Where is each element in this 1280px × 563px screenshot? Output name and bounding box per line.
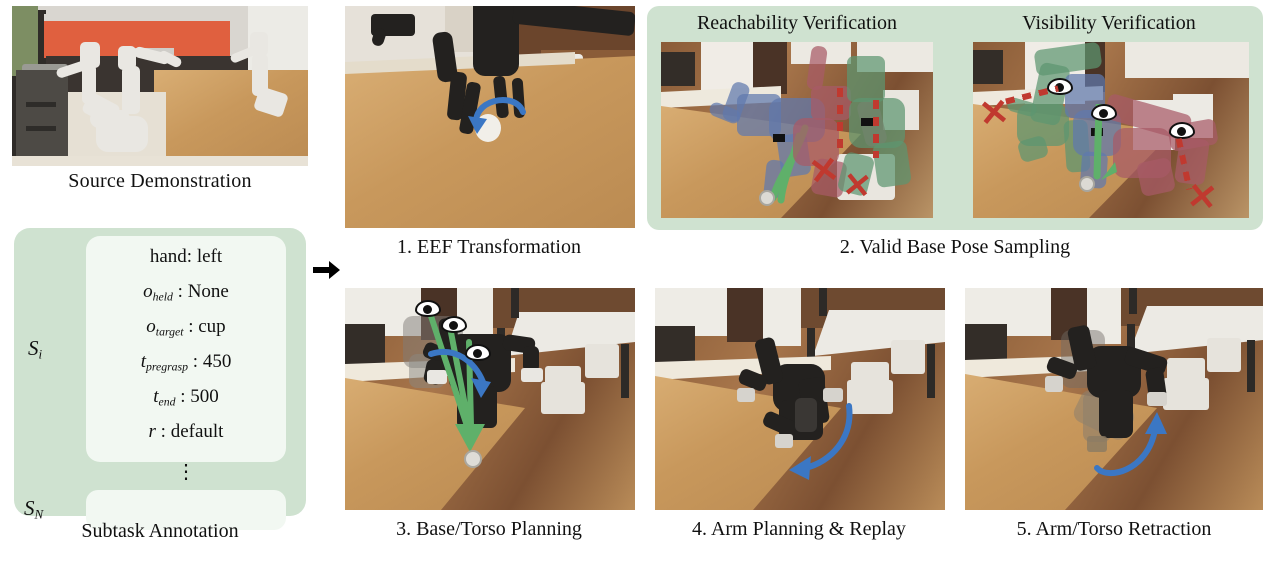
step-1-caption: 1. EEF Transformation <box>336 236 642 259</box>
eye-icon-1 <box>415 300 441 317</box>
step-3-caption: 3. Base/Torso Planning <box>336 518 642 541</box>
field-otarget: otarget : cup <box>86 316 286 339</box>
vertical-ellipsis: ⋮ <box>86 466 286 478</box>
field-hand-value: left <box>197 246 222 267</box>
arm-motion-arrow-blue <box>775 400 855 480</box>
field-tend-subscript: end <box>159 395 176 408</box>
eef-transformation-image <box>345 6 635 228</box>
field-tpregrasp-value: 450 <box>203 351 232 372</box>
field-hand-key: hand: <box>150 246 192 267</box>
step-2-caption: 2. Valid Base Pose Sampling <box>647 236 1263 259</box>
eye-icon-red <box>1169 122 1195 139</box>
subtask-annotation-caption: Subtask Annotation <box>8 520 312 543</box>
reachability-verification-image: ✕ ✕ <box>661 42 933 218</box>
subtask-annotation-panel: Si hand: left oheld : None otarget : cup… <box>14 228 306 516</box>
field-otarget-value: cup <box>198 316 225 337</box>
base-torso-planning-image <box>345 288 635 510</box>
field-tend-sep: : <box>180 386 185 407</box>
field-tend-value: 500 <box>190 386 219 407</box>
reachability-verification-title: Reachability Verification <box>657 12 937 35</box>
field-oheld-sep: : <box>178 281 183 302</box>
subtask-i-symbol: S <box>28 336 39 360</box>
subtask-field-box: hand: left oheld : None otarget : cup tp… <box>86 236 286 462</box>
arrow-right-icon <box>312 258 342 282</box>
field-r: r : default <box>86 421 286 443</box>
field-tpregrasp-subscript: pregrasp <box>146 360 188 373</box>
eye-icon-2 <box>441 316 467 333</box>
field-otarget-sep: : <box>188 316 193 337</box>
subtask-i-subscript: i <box>39 347 43 362</box>
field-r-key: r <box>149 421 156 442</box>
eye-icon-3 <box>465 344 491 361</box>
field-oheld-key: o <box>143 281 153 302</box>
eye-icon-blue <box>1091 104 1117 121</box>
field-oheld-subscript: held <box>153 290 173 303</box>
field-hand: hand: left <box>86 246 286 268</box>
field-r-sep: : <box>161 421 166 442</box>
rotation-arrow-icon <box>457 74 537 144</box>
subtask-i-label: Si <box>28 336 42 363</box>
field-tpregrasp-sep: : <box>193 351 198 372</box>
subtask-n-symbol: S <box>24 496 35 520</box>
field-otarget-key: o <box>146 316 156 337</box>
field-otarget-subscript: target <box>156 325 184 338</box>
valid-base-pose-sampling-panel: Reachability Verification Visibility Ver… <box>647 6 1263 230</box>
source-demonstration-caption: Source Demonstration <box>12 170 308 193</box>
subtask-n-label: SN <box>24 496 43 523</box>
arm-torso-retraction-image <box>965 288 1263 510</box>
step-5-caption: 5. Arm/Torso Retraction <box>956 518 1272 541</box>
field-tpregrasp: tpregrasp : 450 <box>86 351 286 374</box>
visibility-verification-title: Visibility Verification <box>969 12 1249 35</box>
arm-planning-replay-image <box>655 288 945 510</box>
field-oheld-value: None <box>188 281 229 302</box>
field-oheld: oheld : None <box>86 281 286 304</box>
retraction-arrow-blue <box>1089 396 1173 480</box>
field-r-value: default <box>171 421 224 442</box>
source-demonstration-image <box>12 6 308 166</box>
step-4-caption: 4. Arm Planning & Replay <box>646 518 952 541</box>
field-tend: tend : 500 <box>86 386 286 409</box>
visibility-verification-image: ✕ ✕ <box>973 42 1249 218</box>
